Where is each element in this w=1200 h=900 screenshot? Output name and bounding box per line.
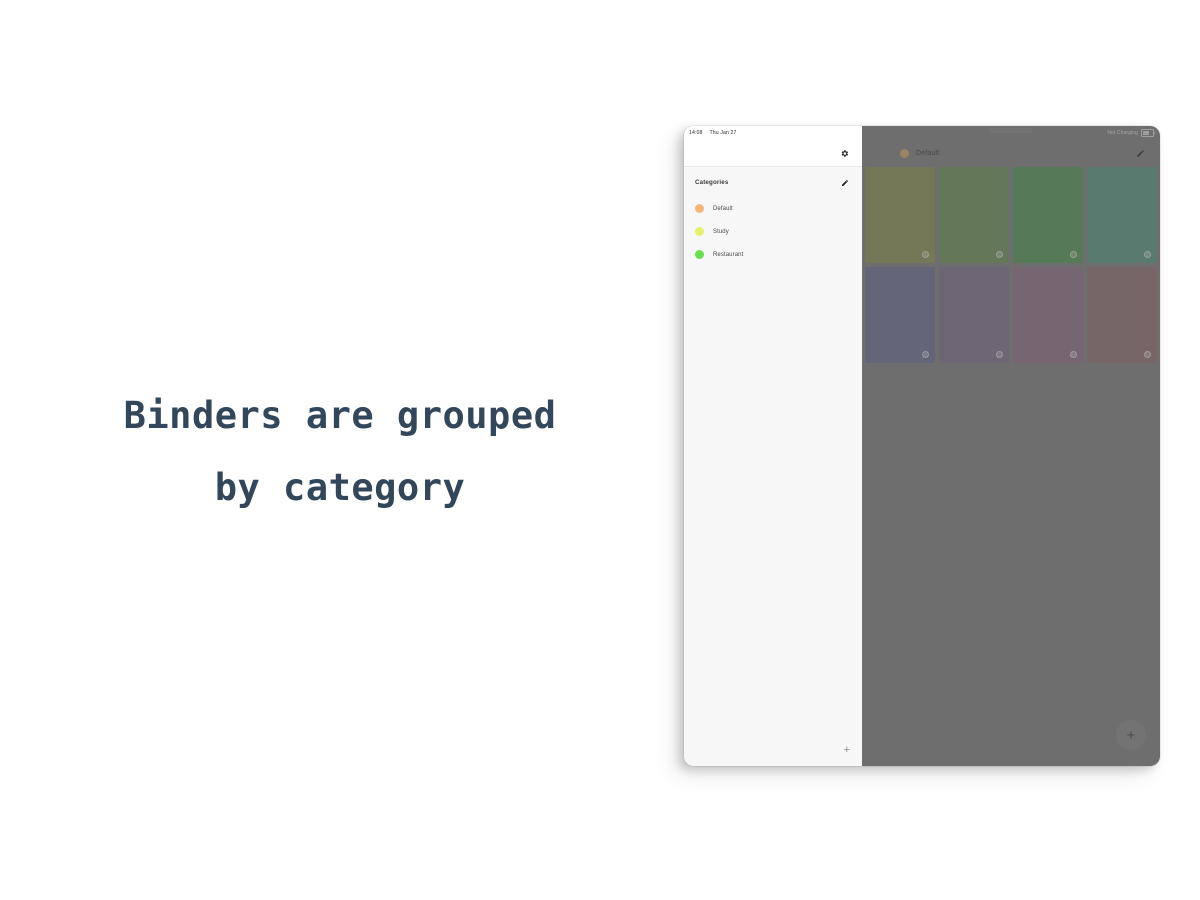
- binder-tile[interactable]: [1087, 167, 1157, 263]
- binder-tile[interactable]: [939, 267, 1009, 363]
- binder-tile[interactable]: [1087, 267, 1157, 363]
- tablet-device-frame: 14:08 Thu Jan 27 Categories Default: [684, 126, 1160, 766]
- binder-grid: [862, 167, 1160, 363]
- sidebar-item-default[interactable]: Default: [684, 197, 862, 220]
- content-status-bar: Not Charging: [862, 126, 1160, 140]
- category-color-dot: [695, 204, 704, 213]
- category-label: Restaurant: [713, 252, 743, 258]
- header-category-dot: [900, 149, 909, 158]
- sidebar-item-restaurant[interactable]: Restaurant: [684, 243, 862, 266]
- binder-tile[interactable]: [939, 167, 1009, 263]
- binder-badge-icon: [922, 251, 929, 258]
- binder-badge-icon: [922, 351, 929, 358]
- category-label: Default: [713, 206, 733, 212]
- status-clock: 14:08: [689, 130, 702, 136]
- pencil-icon[interactable]: [838, 176, 851, 189]
- caption-line-1: Binders are grouped: [60, 380, 620, 452]
- binder-tile[interactable]: [865, 267, 935, 363]
- category-label: Study: [713, 229, 729, 235]
- plus-icon: +: [1127, 728, 1136, 743]
- add-binder-button[interactable]: +: [1116, 720, 1146, 750]
- pencil-icon[interactable]: [1134, 147, 1147, 160]
- battery-status-text: Not Charging: [1107, 130, 1138, 136]
- binder-content-pane: Not Charging Default +: [862, 126, 1160, 766]
- add-category-button[interactable]: +: [844, 745, 850, 756]
- page-title: Default: [916, 150, 939, 157]
- gear-icon[interactable]: [838, 147, 851, 160]
- binder-badge-icon: [1144, 251, 1151, 258]
- caption-line-2: by category: [60, 452, 620, 524]
- page-caption: Binders are grouped by category: [60, 380, 620, 524]
- binder-badge-icon: [1144, 351, 1151, 358]
- content-header-left: Default: [900, 149, 939, 158]
- categories-title: Categories: [695, 179, 728, 186]
- binder-badge-icon: [996, 251, 1003, 258]
- category-list: Default Study Restaurant: [684, 193, 862, 266]
- binder-tile[interactable]: [1013, 167, 1083, 263]
- binder-badge-icon: [1070, 251, 1077, 258]
- sidebar-item-study[interactable]: Study: [684, 220, 862, 243]
- binder-badge-icon: [1070, 351, 1077, 358]
- category-color-dot: [695, 250, 704, 259]
- sidebar: 14:08 Thu Jan 27 Categories Default: [684, 126, 862, 766]
- category-color-dot: [695, 227, 704, 236]
- status-date: Thu Jan 27: [709, 130, 736, 136]
- battery-icon: [1141, 129, 1154, 137]
- sidebar-top-bar: [684, 140, 862, 167]
- binder-badge-icon: [996, 351, 1003, 358]
- sidebar-status-bar: 14:08 Thu Jan 27: [684, 126, 862, 140]
- binder-tile[interactable]: [1013, 267, 1083, 363]
- sidebar-footer: +: [684, 745, 862, 766]
- content-header: Default: [862, 140, 1160, 167]
- binder-tile[interactable]: [865, 167, 935, 263]
- camera-notch: [989, 128, 1033, 133]
- categories-section-header: Categories: [684, 167, 862, 193]
